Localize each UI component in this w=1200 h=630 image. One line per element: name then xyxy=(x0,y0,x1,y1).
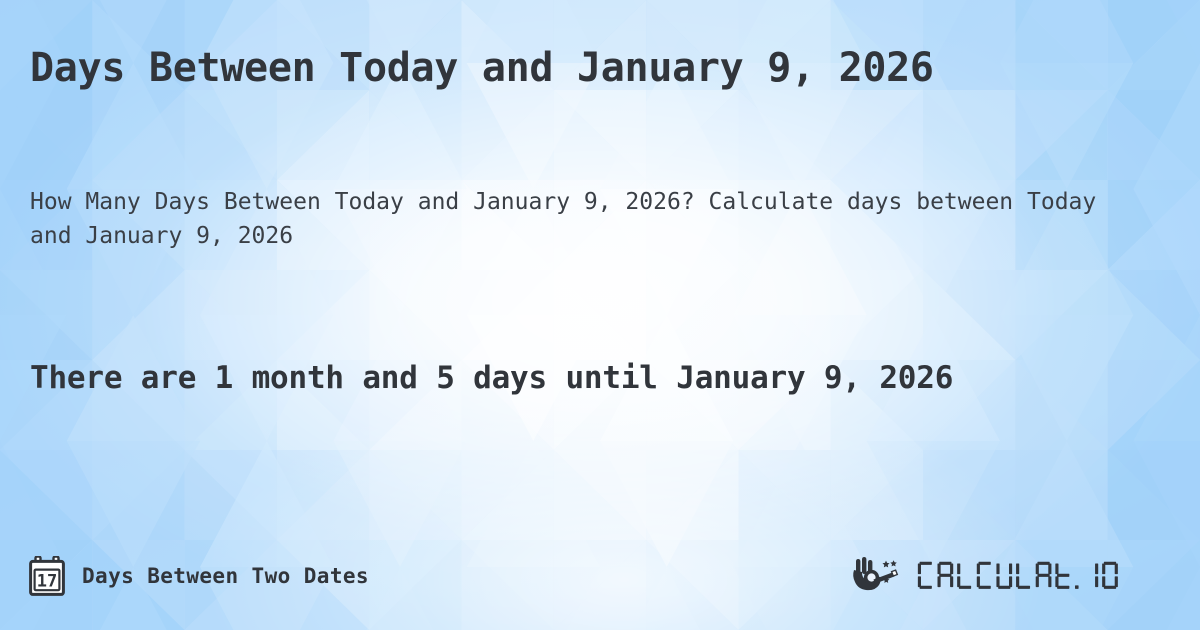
brand-logo[interactable]: CALCULAT.IO xyxy=(850,556,1172,596)
card-footer: 17 Days Between Two Dates xyxy=(0,548,1200,604)
calendar-icon-day: 17 xyxy=(37,571,57,591)
brand-wordmark xyxy=(915,556,1172,596)
result-statement: There are 1 month and 5 days until Janua… xyxy=(30,356,1140,400)
card-content: Days Between Today and January 9, 2026 H… xyxy=(0,0,1200,630)
page-title: Days Between Today and January 9, 2026 xyxy=(30,42,1060,94)
hand-magic-wand-icon xyxy=(850,556,906,596)
share-card: Days Between Today and January 9, 2026 H… xyxy=(0,0,1200,630)
calendar-17-icon: 17 xyxy=(28,556,66,596)
tool-identity: 17 Days Between Two Dates xyxy=(28,556,369,596)
page-subtitle: How Many Days Between Today and January … xyxy=(30,186,1150,253)
tool-name-label: Days Between Two Dates xyxy=(82,564,369,588)
